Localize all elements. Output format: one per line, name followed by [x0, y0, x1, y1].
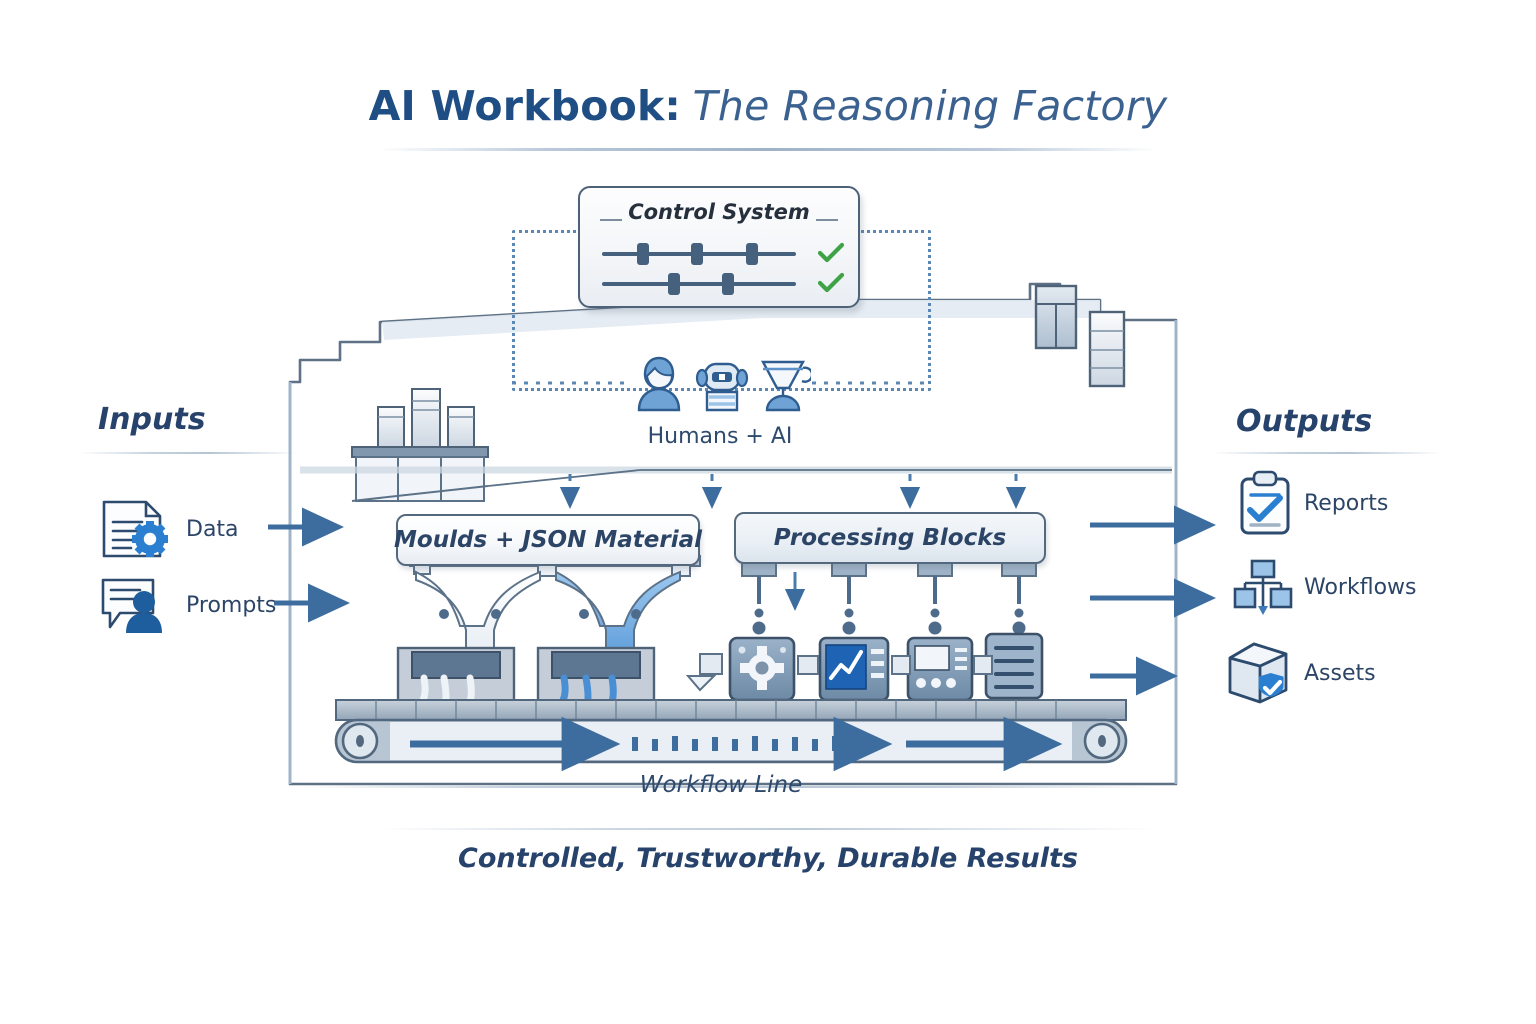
conveyor-belt [336, 700, 1126, 762]
gear-badge [132, 521, 168, 557]
title-dash-left [600, 219, 622, 221]
slider-track-2[interactable] [602, 282, 796, 286]
station-panel-icon [908, 638, 972, 700]
org-chart-icon [1232, 558, 1294, 616]
output-item-workflows[interactable]: Workflows [1232, 558, 1416, 616]
output-label-assets: Assets [1304, 661, 1376, 686]
input-arrows [268, 527, 344, 603]
slider-handle[interactable] [722, 273, 734, 295]
station-documents-icon [986, 634, 1042, 698]
title-main: AI Workbook: [369, 82, 681, 130]
input-item-prompts[interactable]: Prompts [98, 575, 276, 635]
outputs-heading: Outputs [1236, 404, 1372, 439]
panel-moulds-label: Moulds + JSON Material [394, 527, 702, 553]
page-title: AI Workbook: The Reasoning Factory [0, 82, 1536, 130]
title-dash-right [816, 219, 838, 221]
input-item-data[interactable]: Data [98, 498, 239, 560]
panel-moulds[interactable]: Moulds + JSON Material [396, 514, 700, 566]
title-subtitle: The Reasoning Factory [693, 82, 1168, 130]
panel-processing-blocks[interactable]: Processing Blocks [734, 512, 1046, 564]
output-arrows [1090, 525, 1210, 676]
moulds-assembly [398, 556, 700, 708]
belt-valve-icon [688, 676, 714, 690]
slider-handle[interactable] [637, 243, 649, 265]
slider-handle[interactable] [746, 243, 758, 265]
status-check-icon-1 [818, 242, 844, 264]
output-label-workflows: Workflows [1304, 575, 1416, 600]
inputs-heading: Inputs [98, 402, 206, 437]
robot-icon [693, 354, 751, 412]
processing-feed-legs [742, 560, 1036, 635]
belt-fittings [700, 654, 992, 674]
infographic-canvas: AI Workbook: The Reasoning Factory [0, 0, 1536, 1024]
input-label-prompts: Prompts [186, 593, 276, 618]
workflow-line-label: Workflow Line [576, 772, 866, 798]
status-check-icon-2 [818, 272, 844, 294]
roof-chimneys [1036, 286, 1124, 386]
title-divider [378, 148, 1158, 151]
clipboard-check-icon [1236, 470, 1294, 536]
humans-ai-label: Humans + AI [600, 424, 840, 449]
control-system-panel[interactable]: Control System [578, 186, 860, 308]
slider-handle[interactable] [668, 273, 680, 295]
speech-person-icon [98, 575, 176, 635]
funnel-icon [757, 354, 811, 412]
document-gear-icon [98, 498, 176, 560]
outputs-divider [1212, 452, 1442, 454]
footer-caption: Controlled, Trustworthy, Durable Results [0, 843, 1536, 874]
footer-divider [378, 828, 1158, 830]
inputs-divider [78, 452, 298, 454]
input-label-data: Data [186, 517, 239, 542]
slider-track-1[interactable] [602, 252, 796, 256]
output-item-reports[interactable]: Reports [1236, 470, 1388, 536]
humans-ai-icon-group [628, 352, 813, 412]
box-shield-icon [1222, 640, 1294, 706]
station-gear-icon [730, 638, 794, 700]
output-label-reports: Reports [1304, 491, 1388, 516]
output-item-assets[interactable]: Assets [1222, 640, 1376, 706]
person-icon [631, 354, 687, 412]
control-feed-arrows [570, 474, 1016, 506]
slider-handle[interactable] [691, 243, 703, 265]
panel-processing-blocks-label: Processing Blocks [774, 525, 1006, 551]
station-chart-icon [820, 638, 888, 700]
